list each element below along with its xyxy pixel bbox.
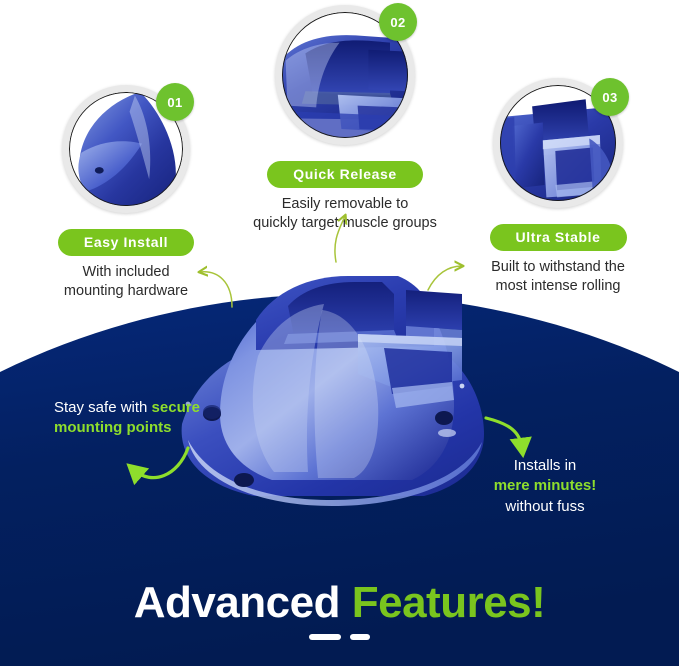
- product-photo: [162, 228, 502, 518]
- feature-2-label: Quick Release: [267, 161, 423, 188]
- feature-3-circle-wrap: 03: [493, 78, 623, 208]
- callout-left-highlight-2: mounting points: [54, 419, 171, 436]
- headline-word-advanced: Advanced: [134, 578, 340, 627]
- feature-1-description: With included mounting hardware: [40, 263, 212, 301]
- feature-2-number-badge: 02: [379, 3, 417, 41]
- feature-2-description: Easily removable to quickly target muscl…: [240, 195, 450, 233]
- headline-space: [340, 578, 352, 627]
- headline-word-features: Features!: [352, 578, 546, 627]
- feature-2-pill-row: Quick Release: [240, 161, 450, 188]
- headline-dashes: [0, 634, 679, 640]
- callout-left-line-2: mounting points: [54, 418, 274, 438]
- callout-left-line-1: Stay safe with secure: [54, 398, 274, 418]
- headline-text-row: Advanced Features!: [0, 578, 679, 628]
- feature-2-circle-wrap: 02: [275, 5, 415, 145]
- headline-dash-long: [309, 634, 341, 640]
- feature-1-circle-wrap: 01: [62, 85, 190, 213]
- feature-card-1: 01 Easy Install With included mounting h…: [40, 85, 212, 301]
- feature-1-number-badge: 01: [156, 83, 194, 121]
- feature-card-2: 02 Quick Release Easily removable to qui…: [240, 5, 450, 233]
- callout-right-line-1: Installs in: [470, 456, 620, 476]
- feature-3-description: Built to withstand the most intense roll…: [468, 258, 648, 296]
- feature-card-3: 03 Ultra Stable Built to withstand the m…: [468, 78, 648, 296]
- headline-dash-short: [350, 634, 370, 640]
- feature-1-label: Easy Install: [58, 229, 194, 256]
- advanced-features-infographic: 01 Easy Install With included mounting h…: [0, 0, 679, 666]
- feature-1-pill-row: Easy Install: [40, 229, 212, 256]
- feature-3-pill-row: Ultra Stable: [468, 224, 648, 251]
- callout-left-text-1: Stay safe with: [54, 399, 152, 416]
- feature-3-number-badge: 03: [591, 78, 629, 116]
- callout-secure-mounting-points: Stay safe with secure mounting points: [54, 398, 274, 439]
- callout-right-line-2: mere minutes!: [470, 476, 620, 496]
- callout-installs-in-minutes: Installs in mere minutes! without fuss: [470, 456, 620, 517]
- headline-block: Advanced Features!: [0, 578, 679, 640]
- feature-3-label: Ultra Stable: [490, 224, 627, 251]
- callout-right-line-3: without fuss: [470, 497, 620, 517]
- callout-left-highlight-1: secure: [152, 399, 200, 416]
